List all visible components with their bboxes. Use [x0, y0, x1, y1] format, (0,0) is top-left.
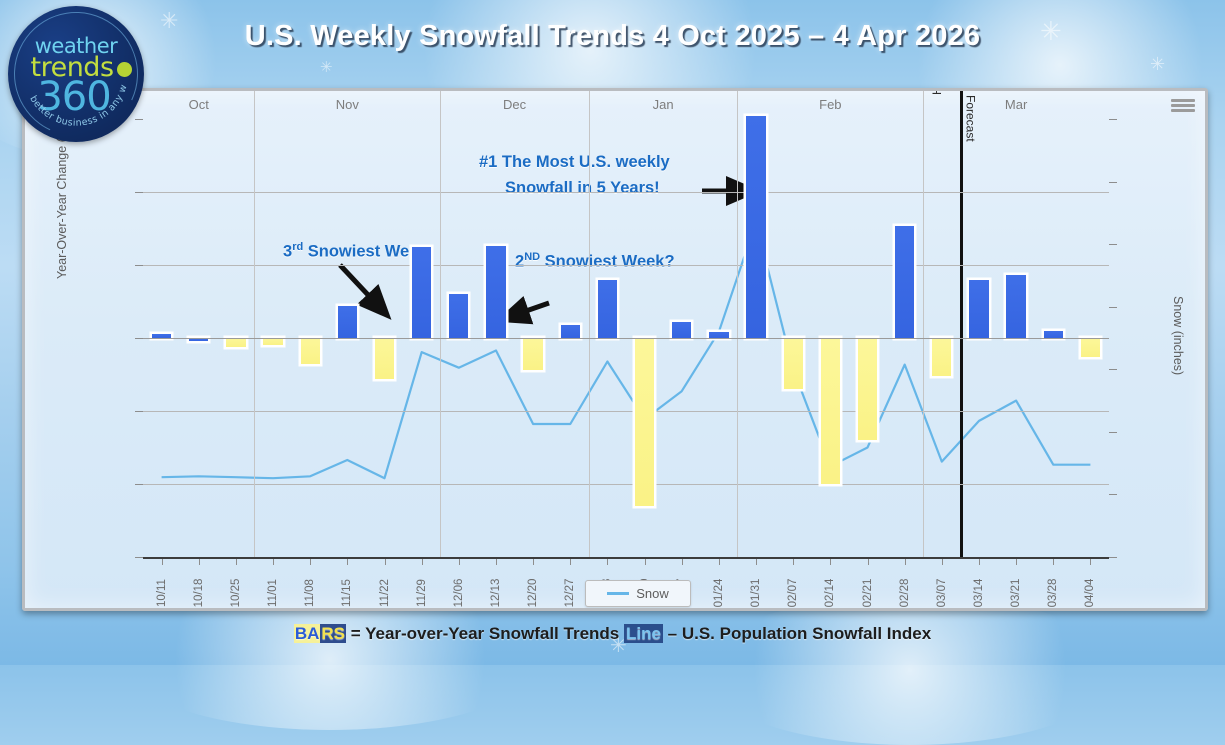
bar-04-04[interactable] [1081, 338, 1100, 357]
x-axis-label-03-28: 03/28 [1047, 573, 1059, 611]
bar-11-29[interactable] [412, 247, 431, 338]
x-axis-label-03-07: 03/07 [936, 573, 948, 611]
x-axis-label-02-28: 02/28 [899, 573, 911, 611]
bar-03-14[interactable] [969, 280, 988, 338]
annotation-most-snowfall-line1: #1 The Most U.S. weekly [479, 153, 670, 172]
y-axis-right-label: Snow (inches) [1171, 296, 1185, 375]
tick-mark [135, 484, 143, 485]
gridline [143, 192, 1109, 193]
background-cloud [700, 595, 1120, 745]
x-axis-label-01-24: 01/24 [713, 573, 725, 611]
tick-mark [1109, 307, 1117, 308]
bar-12-06[interactable] [449, 294, 468, 338]
month-label-jan: Jan [589, 97, 738, 112]
tick-mark [1109, 244, 1117, 245]
x-tick-mark [385, 559, 386, 565]
annotation-second-snowiest: 2ND Snowiest Week? [515, 251, 675, 272]
bar-02-14[interactable] [821, 338, 840, 484]
bar-03-21[interactable] [1006, 275, 1025, 338]
bar-11-15[interactable] [338, 306, 357, 338]
month-divider [254, 91, 255, 557]
gridline [143, 265, 1109, 266]
x-tick-mark [310, 559, 311, 565]
bar-01-17[interactable] [672, 322, 691, 338]
x-axis-label-11-29: 11/29 [416, 573, 428, 611]
caption-bars-yellow: RS [320, 624, 346, 643]
tick-mark [1109, 369, 1117, 370]
svg-text:better business in any weather: better business in any weather [8, 6, 130, 129]
x-tick-mark [273, 559, 274, 565]
x-axis-label-12-20: 12/20 [527, 573, 539, 611]
annotation-third-rank: 3 [283, 243, 292, 261]
month-divider [589, 91, 590, 557]
annotation-third-suffix: rd [292, 241, 303, 253]
chart-legend[interactable]: Snow [585, 580, 691, 607]
chart-caption: BARS = Year-over-Year Snowfall Trends Li… [0, 624, 1225, 644]
x-tick-mark [162, 559, 163, 565]
tick-mark [1109, 432, 1117, 433]
x-axis-label-12-06: 12/06 [453, 573, 465, 611]
x-tick-mark [979, 559, 980, 565]
hamburger-icon[interactable] [1171, 97, 1195, 114]
month-label-feb: Feb [737, 97, 923, 112]
tick-mark [135, 192, 143, 193]
x-axis-label-02-07: 02/07 [787, 573, 799, 611]
annotation-most-snowfall-line2: Snowfall in 5 Years! [505, 179, 660, 198]
logo-tagline: better business in any weather [8, 6, 144, 142]
x-tick-mark [756, 559, 757, 565]
x-axis-label-10-11: 10/11 [156, 573, 168, 611]
x-tick-mark [236, 559, 237, 565]
history-forecast-divider [960, 91, 963, 557]
bar-02-07[interactable] [784, 338, 803, 389]
tick-mark [1109, 119, 1117, 120]
x-tick-mark [496, 559, 497, 565]
bar-12-27[interactable] [561, 325, 580, 338]
snowflake-icon: ✳ [1150, 55, 1165, 73]
tick-mark [135, 411, 143, 412]
legend-line-swatch [607, 592, 629, 595]
x-tick-mark [645, 559, 646, 565]
bar-02-21[interactable] [858, 338, 877, 440]
x-axis-label-12-13: 12/13 [490, 573, 502, 611]
x-tick-mark [459, 559, 460, 565]
tick-mark [135, 557, 143, 558]
bar-11-22[interactable] [375, 338, 394, 379]
month-divider [923, 91, 924, 557]
bar-12-13[interactable] [486, 246, 505, 338]
bar-12-20[interactable] [523, 338, 542, 370]
x-tick-mark [570, 559, 571, 565]
month-divider [737, 91, 738, 557]
tick-mark [1109, 494, 1117, 495]
x-tick-mark [942, 559, 943, 565]
x-tick-mark [1053, 559, 1054, 565]
x-axis-label-03-21: 03/21 [1010, 573, 1022, 611]
x-axis-label-02-21: 02/21 [862, 573, 874, 611]
month-divider [440, 91, 441, 557]
x-tick-mark [347, 559, 348, 565]
x-axis-label-10-25: 10/25 [230, 573, 242, 611]
x-axis-label-11-22: 11/22 [379, 573, 391, 611]
x-axis-line [143, 557, 1109, 559]
caption-line-word: Line [624, 624, 663, 643]
x-axis-label-11-08: 11/08 [304, 573, 316, 611]
snowflake-icon: ✳ [320, 60, 333, 75]
tick-mark [1109, 557, 1117, 558]
x-tick-mark [533, 559, 534, 565]
bar-03-07[interactable] [932, 338, 951, 376]
legend-label-snow: Snow [636, 586, 669, 601]
tick-mark [135, 265, 143, 266]
history-label: History [930, 88, 944, 95]
annotation-second-suffix: ND [524, 251, 540, 263]
x-tick-mark [682, 559, 683, 565]
zero-line [143, 338, 1109, 339]
x-tick-mark [607, 559, 608, 565]
caption-bars-text: = Year-over-Year Snowfall Trends [346, 624, 624, 643]
x-axis-label-11-01: 11/01 [267, 573, 279, 611]
arrow-to-second [503, 303, 549, 319]
tick-mark [135, 338, 143, 339]
gridline [143, 411, 1109, 412]
x-tick-mark [868, 559, 869, 565]
month-label-nov: Nov [254, 97, 440, 112]
x-tick-mark [793, 559, 794, 565]
x-axis-label-04-04: 04/04 [1084, 573, 1096, 611]
page-title: U.S. Weekly Snowfall Trends 4 Oct 2025 –… [0, 20, 1225, 53]
bar-11-01[interactable] [263, 338, 282, 345]
x-axis-label-01-31: 01/31 [750, 573, 762, 611]
x-tick-mark [1090, 559, 1091, 565]
x-tick-mark [199, 559, 200, 565]
chart-panel: Year-Over-Year Change (Bars) Snow (inche… [22, 88, 1208, 611]
x-axis-label-12-27: 12/27 [564, 573, 576, 611]
gridline [143, 484, 1109, 485]
bar-01-10[interactable] [635, 338, 654, 506]
tick-mark [1109, 182, 1117, 183]
bar-10-25[interactable] [226, 338, 245, 347]
bar-01-31[interactable] [746, 116, 765, 338]
x-axis-label-11-15: 11/15 [341, 573, 353, 611]
month-label-oct: Oct [143, 97, 254, 112]
weather-trends-360-logo[interactable]: weather trends 360 better business in an… [8, 6, 144, 142]
annotation-second-rank: 2 [515, 253, 524, 271]
caption-bars-blue: BA [294, 624, 321, 643]
annotation-second-text: Snowiest Week? [540, 253, 674, 271]
annotation-third-text: Snowiest Week [303, 243, 427, 261]
x-tick-mark [905, 559, 906, 565]
background-cloud [120, 590, 540, 730]
month-label-mar: Mar [923, 97, 1109, 112]
x-tick-mark [422, 559, 423, 565]
x-axis-label-03-14: 03/14 [973, 573, 985, 611]
x-axis-label-10-18: 10/18 [193, 573, 205, 611]
x-tick-mark [719, 559, 720, 565]
plot-area: History Forecast #1 The Most U.S. weekly… [143, 119, 1109, 557]
bar-11-08[interactable] [301, 338, 320, 364]
bar-01-03[interactable] [598, 280, 617, 338]
x-axis-label-02-14: 02/14 [824, 573, 836, 611]
bar-02-28[interactable] [895, 226, 914, 338]
caption-line-text: – U.S. Population Snowfall Index [663, 624, 931, 643]
month-label-dec: Dec [440, 97, 589, 112]
x-tick-mark [1016, 559, 1017, 565]
annotation-third-snowiest: 3rd Snowiest Week [283, 241, 428, 262]
x-tick-mark [830, 559, 831, 565]
bar-03-28[interactable] [1044, 331, 1063, 338]
forecast-label: Forecast [963, 95, 977, 142]
